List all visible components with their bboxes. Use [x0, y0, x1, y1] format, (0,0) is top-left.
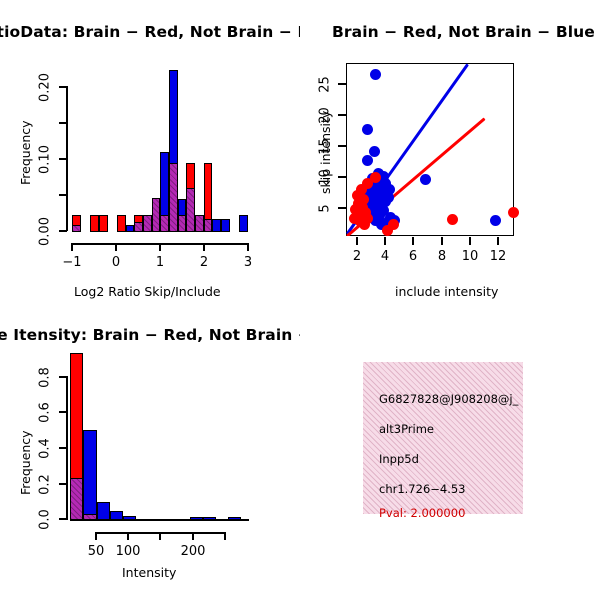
hist-ratio-bar [178, 215, 186, 232]
scatter-xtick [412, 237, 414, 245]
hist-intensity-ytick [59, 411, 67, 413]
hist-ratio-bar [221, 219, 230, 232]
scatter-point [370, 69, 381, 80]
hist-ratio-xtick-label: 0 [101, 255, 131, 270]
hist-ratio-bar [117, 215, 126, 232]
hist-ratio-ytick-label: 0.20 [38, 71, 53, 105]
hist-intensity-bar [97, 502, 110, 520]
scatter-ytick-label: 25 [318, 72, 333, 98]
hist-ratio-xtick-label: −1 [57, 255, 87, 270]
info-line-locus: chr1.726−4.53 [379, 482, 466, 496]
scatter-point [362, 124, 373, 135]
figure-canvas: atioData: Brain − Red, Not Brain − Blu F… [0, 0, 600, 600]
hist-ratio-bar [186, 188, 195, 232]
hist-ratio-ytick-major [59, 158, 67, 160]
scatter-ytick-label: 15 [318, 134, 333, 160]
hist-ratio-xtick [71, 243, 73, 251]
panel-scatter: Brain − Red, Not Brain − Blue skip inten… [300, 0, 600, 300]
hist-ratio-xtick [159, 243, 161, 251]
hist-ratio-xtick-label: 2 [189, 255, 219, 270]
scatter-point [362, 155, 373, 166]
hist-intensity-xtick-label: 50 [81, 544, 111, 559]
scatter-point [490, 215, 501, 226]
hist-intensity-ytick-label: 0.2 [38, 472, 53, 498]
info-box: G6827828@J908208@j_ alt3Prime Inpp5d chr… [363, 362, 523, 514]
hist-ratio-bar [134, 222, 143, 232]
panel-hist-ratio: atioData: Brain − Red, Not Brain − Blu F… [0, 0, 300, 300]
hist-intensity-ytick-label: 0.4 [38, 436, 53, 462]
hist-intensity-ytick [59, 518, 67, 520]
scatter-xtick-label: 12 [483, 249, 513, 264]
panel-info: G6827828@J908208@j_ alt3Prime Inpp5d chr… [300, 300, 600, 600]
scatter-ytick [338, 176, 346, 178]
hist-intensity-ytick-label: 0.6 [38, 400, 53, 426]
hist-ratio-ylabel: Frequency [18, 120, 33, 185]
scatter-xtick-label: 6 [398, 249, 428, 264]
hist-ratio-ytick-minor [59, 194, 67, 196]
scatter-xtick-label: 4 [370, 249, 400, 264]
hist-ratio-xtick [115, 243, 117, 251]
hist-ratio-bar [99, 215, 108, 232]
scatter-xtick [356, 237, 358, 245]
scatter-xtick [497, 237, 499, 245]
scatter-ytick [338, 145, 346, 147]
hist-ratio-bar [204, 219, 212, 232]
hist-intensity-xtick [192, 532, 194, 540]
hist-intensity-xlabel: Intensity [122, 565, 176, 580]
scatter-point [359, 219, 370, 230]
hist-intensity-xtick [224, 532, 226, 540]
hist-ratio-ytick-major [59, 230, 67, 232]
hist-ratio-xtick [247, 243, 249, 251]
scatter-xtick [469, 237, 471, 245]
hist-intensity-ytick-label: 0.0 [38, 507, 53, 533]
hist-ratio-xlabel: Log2 Ratio Skip/Include [74, 284, 221, 299]
hist-ratio-bar [160, 215, 169, 232]
panel-hist-intensity: ne Itensity: Brain − Red, Not Brain − B … [0, 300, 300, 600]
hist-ratio-bar [169, 163, 178, 232]
hist-intensity-ytick [59, 376, 67, 378]
hist-ratio-bar [126, 225, 134, 232]
info-line-gene-symbol: Inpp5d [379, 452, 419, 466]
hist-ratio-title: atioData: Brain − Red, Not Brain − Blu [0, 23, 300, 41]
hist-intensity-ytick-label: 0.8 [38, 365, 53, 391]
scatter-xtick-label: 2 [342, 249, 372, 264]
hist-intensity-ytick [59, 447, 67, 449]
hist-ratio-xtick-label: 3 [233, 255, 263, 270]
scatter-ytick-label: 10 [318, 165, 333, 191]
scatter-title: Brain − Red, Not Brain − Blue [332, 23, 595, 41]
info-line-event-id: G6827828@J908208@j_ [379, 392, 518, 406]
hist-intensity-xaxis [70, 519, 249, 521]
scatter-xlabel: include intensity [395, 284, 498, 299]
hist-ratio-xtick [203, 243, 205, 251]
hist-intensity-xtick-label: 200 [175, 544, 211, 559]
scatter-point [380, 178, 391, 189]
scatter-ytick [338, 114, 346, 116]
scatter-ytick-label: 20 [318, 103, 333, 129]
scatter-point [388, 219, 399, 230]
hist-ratio-bar [72, 225, 81, 232]
scatter-xtick-label: 8 [427, 249, 457, 264]
hist-intensity-xtick [95, 532, 97, 540]
scatter-ytick-label: 5 [318, 198, 333, 220]
hist-ratio-bar [195, 215, 204, 232]
scatter-xtick [441, 237, 443, 245]
hist-ratio-ytick-label: 0.10 [38, 143, 53, 177]
info-line-event-type: alt3Prime [379, 422, 434, 436]
hist-ratio-bar [152, 198, 160, 232]
hist-ratio-bar [239, 215, 248, 232]
scatter-point [447, 214, 458, 225]
scatter-point [420, 174, 431, 185]
hist-intensity-ytick [59, 483, 67, 485]
scatter-xtick [384, 237, 386, 245]
hist-intensity-xtick [159, 532, 161, 540]
hist-intensity-title: ne Itensity: Brain − Red, Not Brain − B [0, 326, 300, 344]
hist-ratio-ytick-label: 0.00 [38, 215, 53, 249]
scatter-xtick-label: 10 [455, 249, 485, 264]
hist-ratio-bar [212, 219, 221, 232]
hist-ratio-ytick-major [59, 86, 67, 88]
scatter-ytick [338, 83, 346, 85]
hist-intensity-xtick-label: 100 [110, 544, 146, 559]
info-line-pval: Pval: 2.000000 [379, 506, 465, 520]
scatter-point [508, 207, 519, 218]
hist-ratio-xtick-label: 1 [145, 255, 175, 270]
hist-ratio-bar [90, 215, 99, 232]
hist-intensity-bar [70, 478, 83, 520]
hist-intensity-xtick [127, 532, 129, 540]
hist-ratio-ytick-minor [59, 122, 67, 124]
hist-ratio-bar [143, 215, 152, 232]
hist-intensity-bar [83, 430, 97, 520]
scatter-ytick [338, 207, 346, 209]
hist-intensity-ylabel: Frequency [18, 430, 33, 495]
